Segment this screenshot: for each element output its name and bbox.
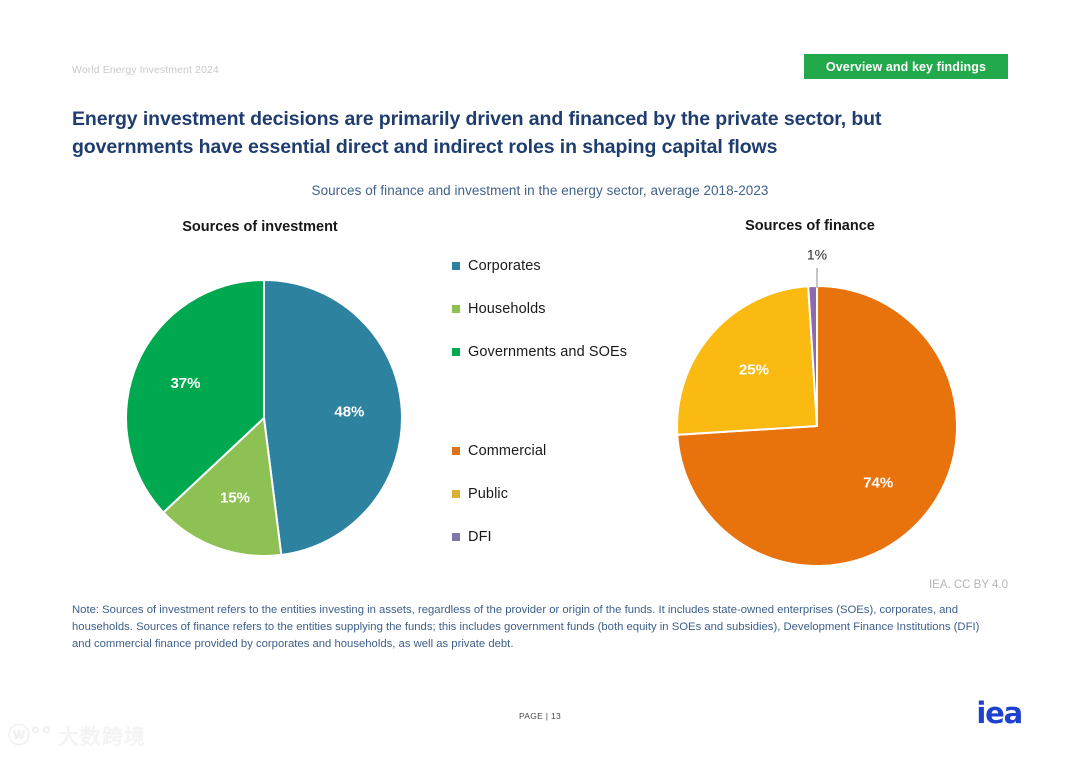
chart-title-investment: Sources of investment [110, 219, 410, 235]
legend-item-households[interactable]: Households [452, 298, 652, 319]
iea-logo: iea [976, 699, 1022, 728]
watermark: ⓦ°° 大数跨境 [8, 726, 146, 748]
page-title: Energy investment decisions are primaril… [72, 106, 972, 161]
slide-canvas: World Energy Investment 2024 Overview an… [0, 0, 1080, 763]
legend-item-public[interactable]: Public [452, 483, 652, 504]
pie-label-households: 15% [220, 489, 250, 506]
legend-swatch-commercial [452, 447, 460, 455]
chart-subtitle: Sources of finance and investment in the… [0, 183, 1080, 198]
pie-slice-corporates [264, 280, 402, 555]
pie-svg-finance: 74% 25% 1% [675, 280, 965, 570]
page-number-text: PAGE | 13 [519, 711, 561, 721]
legend-label-commercial: Commercial [468, 443, 546, 459]
legend-label-dfi: DFI [468, 529, 492, 545]
pie-label-dfi: 1% [807, 247, 827, 263]
pie-slices-finance [677, 286, 957, 566]
legend-label-households: Households [468, 301, 546, 317]
pie-svg-investment: 48% 15% 37% [123, 277, 405, 559]
pie-chart-sources-of-investment: 48% 15% 37% [123, 277, 405, 559]
legend-label-public: Public [468, 486, 508, 502]
page-number: PAGE | 13 [0, 711, 1080, 722]
legend-item-dfi[interactable]: DFI [452, 526, 652, 547]
pie-chart-sources-of-finance: 74% 25% 1% [675, 280, 965, 570]
chart-title-finance: Sources of finance [660, 218, 960, 234]
pie-label-public: 25% [739, 361, 769, 378]
legend-swatch-public [452, 490, 460, 498]
chart-note: Note: Sources of investment refers to th… [72, 602, 992, 653]
legend-swatch-households [452, 305, 460, 313]
document-title: World Energy Investment 2024 [72, 64, 219, 76]
legend-swatch-corporates [452, 262, 460, 270]
legend-swatch-dfi [452, 533, 460, 541]
page-word-rest: AGE | 13 [524, 711, 561, 721]
section-badge: Overview and key findings [804, 54, 1008, 79]
legend-item-commercial[interactable]: Commercial [452, 440, 652, 461]
page-title-line-1: Energy investment decisions are primaril… [72, 108, 881, 130]
license-attribution: IEA. CC BY 4.0 [929, 579, 1008, 591]
pie-label-commercial: 74% [863, 474, 893, 491]
legend-label-governments-and-soes: Governments and SOEs [468, 344, 627, 360]
chart-legend: Corporates Households Governments and SO… [452, 255, 652, 569]
legend-item-corporates[interactable]: Corporates [452, 255, 652, 276]
pie-label-corporates: 48% [334, 404, 364, 421]
legend-item-governments-and-soes[interactable]: Governments and SOEs [452, 341, 652, 362]
watermark-label: 大数跨境 [58, 727, 146, 748]
legend-label-corporates: Corporates [468, 258, 541, 274]
pie-label-governments: 37% [170, 375, 200, 392]
page-title-line-2: governments have essential direct and in… [72, 136, 777, 158]
legend-swatch-governments-and-soes [452, 348, 460, 356]
watermark-logo-icon: ⓦ°° [8, 726, 52, 748]
